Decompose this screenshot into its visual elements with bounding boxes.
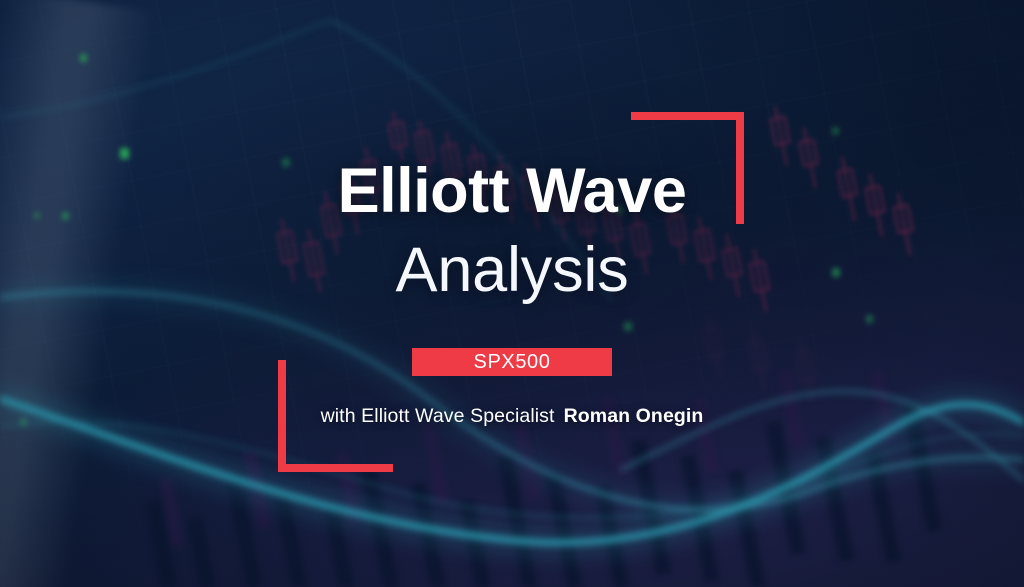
instrument-badge-row: SPX500 xyxy=(0,348,1024,376)
title-line-secondary: Analysis xyxy=(0,239,1024,302)
presenter-role-label: with Elliott Wave Specialist xyxy=(321,405,555,428)
card-content: Elliott Wave Analysis SPX500 with Elliot… xyxy=(0,0,1024,587)
page-title: Elliott Wave Analysis xyxy=(0,160,1024,302)
status-badge: SPX500 xyxy=(412,348,612,376)
promo-card: Elliott Wave Analysis SPX500 with Elliot… xyxy=(0,0,1024,587)
title-line-primary: Elliott Wave xyxy=(0,160,1024,223)
presenter-credit: with Elliott Wave Specialist Roman Onegi… xyxy=(0,405,1024,428)
presenter-name-label: Roman Onegin xyxy=(564,405,704,428)
